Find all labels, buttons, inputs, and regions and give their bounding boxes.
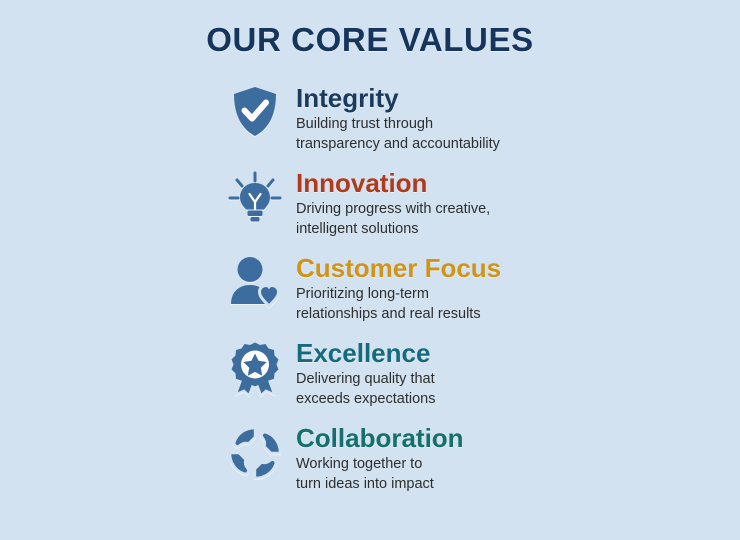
value-description: Driving progress with creative, intellig…	[296, 199, 626, 239]
value-description-line1: Delivering quality that	[296, 369, 626, 389]
lightbulb-icon	[224, 169, 286, 231]
value-item-integrity: Integrity Building trust through transpa…	[224, 84, 724, 169]
value-description: Building trust through transparency and …	[296, 114, 626, 154]
value-item-customer-focus: Customer Focus Prioritizing long-term re…	[224, 254, 724, 339]
person-heart-icon	[224, 254, 286, 316]
value-item-excellence: Excellence Delivering quality that excee…	[224, 339, 724, 424]
core-values-poster: OUR CORE VALUES Integrity Building trust…	[0, 0, 740, 540]
value-text-excellence: Excellence Delivering quality that excee…	[286, 339, 724, 409]
value-description-line2: intelligent solutions	[296, 219, 626, 239]
value-description-line2: turn ideas into impact	[296, 474, 626, 494]
value-item-collaboration: Collaboration Working together to turn i…	[224, 424, 724, 509]
shield-check-icon	[224, 84, 286, 146]
value-description-line2: relationships and real results	[296, 304, 626, 324]
award-rosette-icon	[224, 339, 286, 401]
value-description: Prioritizing long-term relationships and…	[296, 284, 626, 324]
value-heading: Innovation	[296, 169, 724, 197]
values-list: Integrity Building trust through transpa…	[224, 84, 724, 509]
value-text-innovation: Innovation Driving progress with creativ…	[286, 169, 724, 239]
value-heading: Integrity	[296, 84, 724, 112]
value-description-line1: Working together to	[296, 454, 626, 474]
value-heading: Excellence	[296, 339, 724, 367]
value-description: Delivering quality that exceeds expectat…	[296, 369, 626, 409]
page-title: OUR CORE VALUES	[0, 22, 740, 58]
value-description-line1: Building trust through	[296, 114, 626, 134]
value-description: Working together to turn ideas into impa…	[296, 454, 626, 494]
value-text-collaboration: Collaboration Working together to turn i…	[286, 424, 724, 494]
value-text-customer-focus: Customer Focus Prioritizing long-term re…	[286, 254, 724, 324]
value-description-line2: transparency and accountability	[296, 134, 626, 154]
value-heading: Customer Focus	[296, 254, 724, 282]
value-description-line1: Prioritizing long-term	[296, 284, 626, 304]
value-heading: Collaboration	[296, 424, 724, 452]
value-description-line2: exceeds expectations	[296, 389, 626, 409]
value-item-innovation: Innovation Driving progress with creativ…	[224, 169, 724, 254]
value-description-line1: Driving progress with creative,	[296, 199, 626, 219]
value-text-integrity: Integrity Building trust through transpa…	[286, 84, 724, 154]
collaboration-pinwheel-icon	[224, 424, 286, 486]
